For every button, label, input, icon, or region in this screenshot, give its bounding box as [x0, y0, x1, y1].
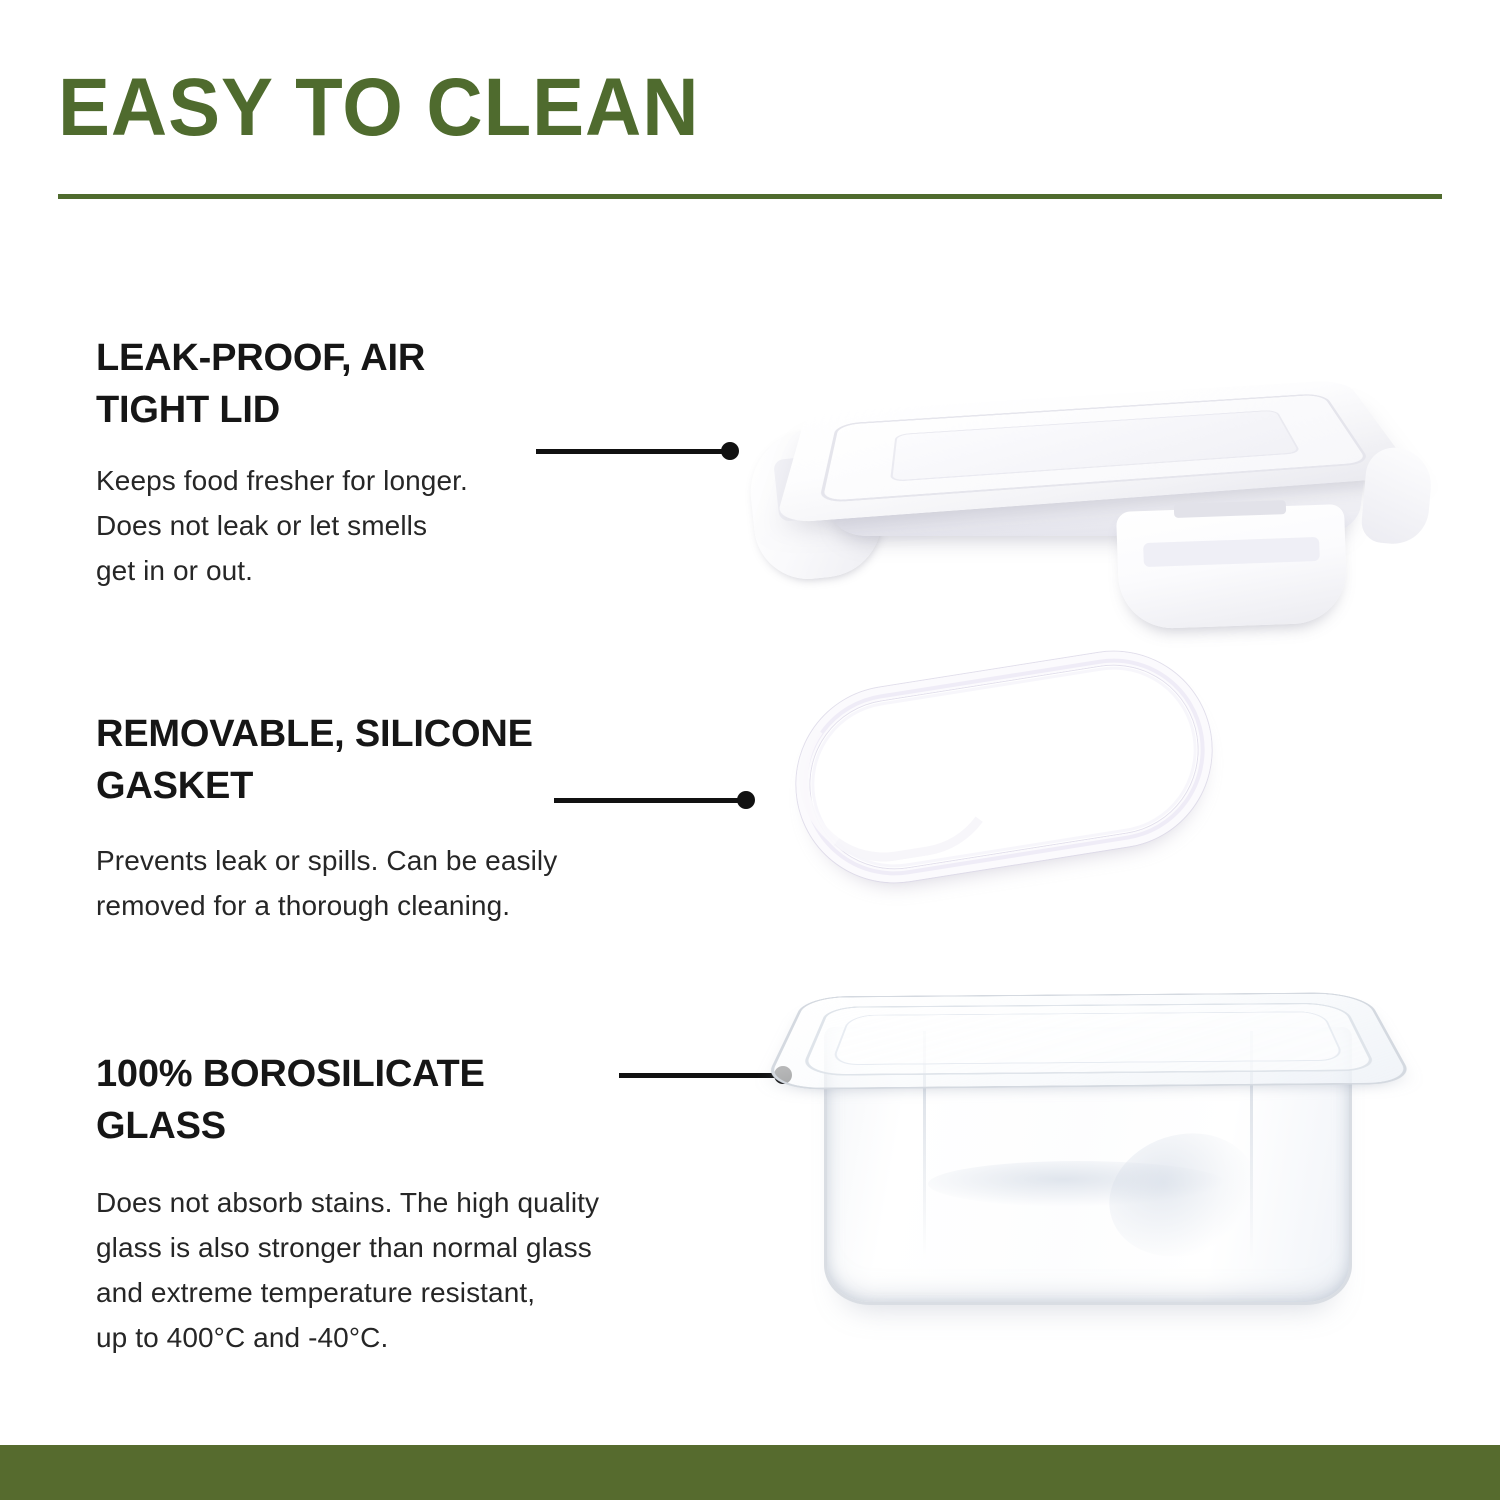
feature-body-glass: Does not absorb stains. The high quality… [96, 1180, 736, 1360]
feature-block-glass: 100% BOROSILICATE GLASS Does not absorb … [96, 1048, 736, 1360]
lid-clip-front [1116, 504, 1348, 630]
feature-heading-glass: 100% BOROSILICATE GLASS [96, 1048, 736, 1152]
page-title: EASY TO CLEAN [58, 62, 699, 154]
feature-body-lid: Keeps food fresher for longer. Does not … [96, 458, 736, 593]
title-divider [58, 194, 1442, 199]
leader-line [536, 449, 730, 454]
callout-leader-glass [619, 1066, 792, 1084]
product-image-lid [740, 330, 1440, 650]
feature-block-gasket: REMOVABLE, SILICONE GASKET Prevents leak… [96, 708, 736, 928]
callout-leader-lid [536, 442, 739, 460]
product-image-gasket [795, 655, 1225, 905]
feature-heading-lid: LEAK-PROOF, AIR TIGHT LID [96, 332, 736, 436]
feature-body-gasket: Prevents leak or spills. Can be easily r… [96, 838, 736, 928]
leader-dot-icon [737, 791, 755, 809]
leader-dot-icon [721, 442, 739, 460]
footer-accent-bar [0, 1445, 1500, 1500]
lid-clip-right [1360, 445, 1434, 546]
callout-leader-gasket [554, 791, 755, 809]
leader-line [554, 798, 746, 803]
glass-container-rim [761, 992, 1416, 1090]
product-image-glass [778, 935, 1398, 1335]
leader-line [619, 1073, 783, 1078]
feature-block-lid: LEAK-PROOF, AIR TIGHT LID Keeps food fre… [96, 332, 736, 593]
infographic-page: EASY TO CLEAN LEAK-PROOF, AIR TIGHT LID … [0, 0, 1500, 1500]
